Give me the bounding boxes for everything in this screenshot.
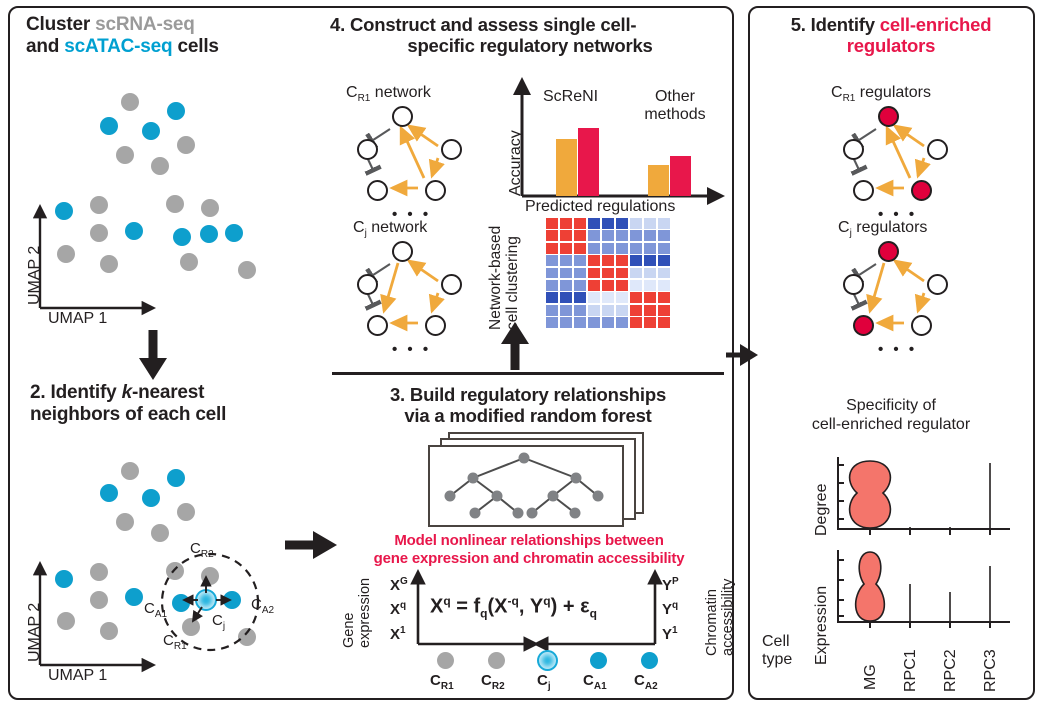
step1-title-cells: cells — [172, 36, 218, 57]
heatmap-cell — [658, 243, 670, 254]
heatmap-cell — [574, 268, 586, 279]
scatter-dot-gray — [177, 503, 195, 521]
rf-tree — [428, 445, 620, 523]
scatter-dot-gray — [177, 136, 195, 154]
heatmap-cell — [588, 243, 600, 254]
eq-cell-label-ca2: CA2 — [634, 672, 658, 692]
heatmap-cell — [546, 268, 558, 279]
scatter-dot-gray — [90, 563, 108, 581]
heatmap-cell — [630, 255, 642, 266]
heatmap-cell — [630, 305, 642, 316]
heatmap-cell — [602, 305, 614, 316]
heatmap-ylabel: Network-based cell clustering — [487, 215, 522, 330]
heatmap-cell — [602, 230, 614, 241]
net2-suffix: network — [367, 219, 427, 236]
step4-title-line2: specific regulatory networks — [330, 35, 730, 56]
network-node — [927, 139, 948, 160]
heatmap-cell — [630, 280, 642, 291]
heatmap-cell — [644, 292, 656, 303]
bar-chart-ylabel: Accuracy — [507, 130, 525, 196]
knn-label-ca1-main: C — [144, 600, 155, 617]
eq-cell-cj — [539, 652, 556, 669]
heatmap-cell — [602, 218, 614, 229]
step2-title-line2: neighbors of each cell — [30, 404, 226, 425]
violin-ylabel-expression: Expression — [813, 586, 831, 665]
tick-x1: X1 — [390, 625, 406, 643]
scatter-dot-gray — [121, 93, 139, 111]
heatmap-cell — [546, 292, 558, 303]
heatmap-grid — [546, 218, 670, 328]
step3-highlight: Model nonlinear relationships between ge… — [332, 532, 726, 568]
scatter-dot-blue — [55, 570, 73, 588]
step4-title-line1: 4. Construct and assess single cell- — [330, 14, 636, 35]
scatter-dot-blue — [100, 117, 118, 135]
heatmap-cell — [588, 255, 600, 266]
step1-title-scrna: scRNA-seq — [95, 14, 195, 35]
scatter-dot-gray — [121, 462, 139, 480]
step1-title: Cluster scRNA-seq and scATAC-seq cells — [26, 14, 326, 58]
tick-xg: XG — [390, 576, 408, 594]
bar-screni-orange — [556, 139, 577, 196]
heatmap-cell — [574, 230, 586, 241]
network-node — [367, 180, 388, 201]
heatmap-cell — [560, 255, 572, 266]
heatmap-cell — [546, 243, 558, 254]
bar-other-orange — [648, 165, 669, 196]
knn-label-ca1-sub: A1 — [155, 609, 167, 620]
scatter-dot-gray — [90, 591, 108, 609]
tick-yq: Yq — [662, 600, 678, 618]
heatmap-cell — [546, 280, 558, 291]
step5-network1-label: CR1 regulators — [831, 84, 931, 104]
knn-label-cj-main: C — [212, 612, 223, 629]
scatter-dot-blue — [125, 222, 143, 240]
heatmap-cell — [658, 292, 670, 303]
heatmap-cell — [602, 243, 614, 254]
step3-title: 3. Build regulatory relationships via a … — [332, 384, 724, 427]
heatmap-ylabel-l2: cell clustering — [504, 236, 521, 330]
eq-cell-label-cr2: CR2 — [481, 672, 505, 692]
heatmap-ylabel-l1: Network-based — [487, 226, 504, 330]
step5-title-hl1: cell-enriched — [880, 14, 992, 35]
heatmap-cell — [560, 317, 572, 328]
knn-label-ca1: CA1 — [144, 600, 167, 620]
scatter-dot-blue — [167, 469, 185, 487]
heatmap-cell — [588, 268, 600, 279]
heatmap-cell — [588, 218, 600, 229]
eq-cell-label-cr1: CR1 — [430, 672, 454, 692]
heatmap-cell — [658, 317, 670, 328]
violin-title: Specificity of cell-enriched regulator — [760, 396, 1022, 434]
violin-tick-rpc3: RPC3 — [982, 649, 1000, 692]
tick-xq: Xq — [390, 600, 406, 618]
scatter-dot-blue — [200, 225, 218, 243]
s5net2-c: C — [838, 219, 850, 236]
step2-title: 2. Identify k-nearest neighbors of each … — [30, 382, 330, 426]
s5net2-suffix: regulators — [852, 219, 928, 236]
ge-l2: expression — [357, 578, 373, 648]
network-node — [425, 180, 446, 201]
network-node — [843, 139, 864, 160]
heatmap-cell — [560, 292, 572, 303]
violin-title-l1: Specificity of — [846, 397, 936, 414]
scatter-dot-gray — [151, 524, 169, 542]
network-node — [425, 315, 446, 336]
scatter-dot-gray — [116, 146, 134, 164]
heatmap-cell — [560, 218, 572, 229]
arrow-step4-to-step5 — [722, 338, 762, 374]
network-node — [357, 274, 378, 295]
bar-other-crimson — [670, 156, 691, 196]
tick-y1: Y1 — [662, 625, 678, 643]
step1-title-and: and — [26, 36, 64, 57]
heatmap-cell — [560, 305, 572, 316]
heatmap-cell — [602, 317, 614, 328]
heatmap-cell — [630, 218, 642, 229]
network-node — [441, 139, 462, 160]
eq-cell-label-cj: Cj — [537, 672, 551, 692]
scatter-dot-gray — [90, 196, 108, 214]
heatmap-cell — [644, 218, 656, 229]
step1-title-scatac: scATAC-seq — [64, 36, 172, 57]
heatmap-cell — [546, 317, 558, 328]
s5net1-suffix: regulators — [855, 84, 931, 101]
knn-label-cj: Cj — [212, 612, 225, 632]
heatmap-cell — [546, 218, 558, 229]
eqlbl2: C — [537, 672, 548, 689]
heatmap-cell — [630, 292, 642, 303]
scatter-dot-gray — [57, 245, 75, 263]
scatter-dot-gray — [201, 199, 219, 217]
violin-tick-rpc2: RPC2 — [942, 649, 960, 692]
s5net1-sub: R1 — [843, 93, 856, 104]
heatmap-cell — [616, 255, 628, 266]
heatmap-cell — [644, 230, 656, 241]
network-node — [853, 180, 874, 201]
step1-xlabel: UMAP 1 — [48, 310, 107, 328]
violin-ylabel-degree: Degree — [813, 484, 831, 536]
step2-ylabel: UMAP 2 — [26, 603, 44, 662]
violin-tick-rpc1: RPC1 — [902, 649, 920, 692]
step5-title-pre: 5. Identify — [791, 14, 880, 35]
step1-ylabel: UMAP 2 — [26, 246, 44, 305]
net1-suffix: network — [370, 84, 430, 101]
eqlbl4: C — [634, 672, 645, 689]
network-node — [357, 139, 378, 160]
heatmap-cell — [560, 230, 572, 241]
heatmap-cell — [616, 305, 628, 316]
step4-network1-label: CR1 network — [346, 84, 431, 104]
violin-title-l2: cell-enriched regulator — [812, 416, 970, 433]
s5net1-c: C — [831, 84, 843, 101]
step3-title-line2: via a modified random forest — [404, 405, 651, 426]
scatter-dot-blue — [142, 122, 160, 140]
step3-title-line1: 3. Build regulatory relationships — [390, 384, 666, 405]
network-node — [392, 106, 413, 127]
knn-label-ca2-main: C — [251, 596, 262, 613]
heatmap-cell — [588, 305, 600, 316]
eq-cell-label-ca1: CA1 — [583, 672, 607, 692]
arrow-step1-to-step2 — [136, 330, 172, 384]
heatmap-cell — [588, 230, 600, 241]
heatmap-cell — [644, 268, 656, 279]
knn-label-cr1-sub: R1 — [174, 641, 187, 652]
heatmap-cell — [546, 255, 558, 266]
ct-l1: Cell — [762, 633, 790, 650]
heatmap-cell — [588, 317, 600, 328]
step1-title-p1: Cluster — [26, 14, 95, 35]
heatmap-cell — [588, 292, 600, 303]
scatter-dot-blue — [55, 202, 73, 220]
step2-title-pre: 2. Identify — [30, 382, 122, 403]
heatmap-cell — [658, 268, 670, 279]
violin-panel-degree — [830, 455, 1020, 537]
scatter-dot-blue — [142, 489, 160, 507]
step4-ellipsis-2: • • • — [392, 341, 431, 358]
section-divider — [332, 372, 724, 375]
scatter-dot-gray — [238, 261, 256, 279]
step5-ellipsis-2: • • • — [878, 341, 917, 358]
heatmap-cell — [574, 280, 586, 291]
scatter-dot-gray — [166, 195, 184, 213]
heatmap-cell — [560, 280, 572, 291]
network-node-enriched — [911, 180, 932, 201]
heatmap-cell — [546, 230, 558, 241]
bar-screni-crimson — [578, 128, 599, 196]
step4-title: 4. Construct and assess single cell- spe… — [330, 14, 730, 57]
heatmap-cell — [574, 255, 586, 266]
heatmap-cell — [560, 268, 572, 279]
arrow-step3-to-step4 — [498, 318, 534, 372]
eq-cell-ca2 — [641, 652, 658, 669]
eqsub2: j — [548, 681, 551, 692]
step5-title: 5. Identify cell-enriched regulators — [760, 14, 1022, 57]
scatter-dot-gray — [180, 253, 198, 271]
step2-axes — [32, 565, 162, 675]
heatmap-cell — [588, 280, 600, 291]
step2-xlabel: UMAP 1 — [48, 667, 107, 685]
heatmap-cell — [644, 255, 656, 266]
heatmap-cell — [630, 243, 642, 254]
eqsub1: R2 — [492, 681, 505, 692]
eq-cell-cr1 — [437, 652, 454, 669]
network-node — [367, 315, 388, 336]
network-node — [927, 274, 948, 295]
heatmap-cell — [658, 305, 670, 316]
network-node — [392, 241, 413, 262]
violin-panel-expression — [830, 548, 1020, 630]
scatter-dot-gray — [90, 224, 108, 242]
heatmap-cell — [616, 230, 628, 241]
heatmap-cell — [616, 317, 628, 328]
scatter-dot-blue — [225, 224, 243, 242]
chromatin-accessibility-ylabel: Chromatin accessibility — [704, 570, 736, 656]
step5-network2-label: Cj regulators — [838, 219, 927, 239]
heatmap-cell — [644, 305, 656, 316]
heatmap-cell — [630, 317, 642, 328]
bar-group-label-1: ScReNI — [543, 88, 598, 106]
step3-highlight-l1: Model nonlinear relationships between — [394, 532, 663, 549]
network-node-enriched — [878, 241, 899, 262]
knn-label-cr2-sub: R2 — [201, 549, 214, 560]
network-node-enriched — [878, 106, 899, 127]
heatmap-cell — [574, 305, 586, 316]
net1-sub: R1 — [358, 93, 371, 104]
heatmap-cell — [658, 230, 670, 241]
scatter-dot-blue — [125, 588, 143, 606]
scatter-dot-blue — [167, 102, 185, 120]
step5-title-hl2: regulators — [847, 35, 935, 56]
knn-label-cr1-main: C — [163, 632, 174, 649]
ca-l2: accessibility — [720, 579, 736, 656]
heatmap-cell — [644, 280, 656, 291]
tick-yp: YP — [662, 576, 679, 594]
step2-title-k: k — [122, 382, 132, 403]
net1-c: C — [346, 84, 358, 101]
scatter-dot-gray — [116, 513, 134, 531]
step4-network2-label: Cj network — [353, 219, 427, 239]
bar-chart-xlabel: Predicted regulations — [525, 198, 675, 216]
eq-cell-cr2 — [488, 652, 505, 669]
bar-group-label-2: Othermethods — [637, 88, 713, 125]
knn-label-cj-sub: j — [223, 621, 225, 632]
heatmap-cell — [644, 243, 656, 254]
scatter-dot-blue — [173, 228, 191, 246]
heatmap-cell — [602, 280, 614, 291]
heatmap-cell — [616, 292, 628, 303]
heatmap-cell — [644, 317, 656, 328]
step3-highlight-l2: gene expression and chromatin accessibil… — [374, 550, 685, 567]
heatmap-cell — [574, 243, 586, 254]
equation-text: Xq = fq(X-q, Yq) + εq — [430, 594, 597, 621]
ct-l2: type — [762, 651, 792, 668]
violin-xlabel-celltype: Cell type — [762, 633, 792, 670]
knn-label-ca2: CA2 — [251, 596, 274, 616]
ge-l1: Gene — [341, 613, 357, 648]
heatmap-cell — [630, 230, 642, 241]
ca-l1: Chromatin — [704, 589, 720, 656]
heatmap-cell — [630, 268, 642, 279]
scatter-dot-gray — [151, 157, 169, 175]
heatmap-cell — [574, 218, 586, 229]
step2-title-post: -nearest — [132, 382, 204, 403]
network-node — [441, 274, 462, 295]
eq-cell-ca1 — [590, 652, 607, 669]
heatmap-cell — [616, 280, 628, 291]
eqlbl0: C — [430, 672, 441, 689]
heatmap-cell — [574, 317, 586, 328]
heatmap-cell — [658, 280, 670, 291]
figure-root: Cluster scRNA-seq and scATAC-seq cells U… — [0, 0, 1039, 705]
network-node — [911, 315, 932, 336]
eqlbl3: C — [583, 672, 594, 689]
eqsub3: A1 — [594, 681, 607, 692]
heatmap-cell — [658, 255, 670, 266]
scatter-dot-gray — [100, 622, 118, 640]
network-node — [843, 274, 864, 295]
scatter-dot-gray — [57, 612, 75, 630]
heatmap-cell — [574, 292, 586, 303]
eqsub0: R1 — [441, 681, 454, 692]
net2-c: C — [353, 219, 365, 236]
heatmap-cell — [546, 305, 558, 316]
eqsub4: A2 — [645, 681, 658, 692]
gene-expression-ylabel: Gene expression — [341, 568, 373, 648]
knn-label-ca2-sub: A2 — [262, 605, 274, 616]
knn-label-cr1: CR1 — [163, 632, 187, 652]
scatter-dot-gray — [100, 255, 118, 273]
heatmap-cell — [658, 218, 670, 229]
knn-label-cr2-main: C — [190, 540, 201, 557]
eqlbl1: C — [481, 672, 492, 689]
heatmap-cell — [616, 218, 628, 229]
heatmap-cell — [602, 292, 614, 303]
heatmap-cell — [560, 243, 572, 254]
knn-label-cr2: CR2 — [190, 540, 214, 560]
violin-tick-mg: MG — [862, 664, 880, 690]
scatter-dot-blue — [100, 484, 118, 502]
network-node-enriched — [853, 315, 874, 336]
heatmap-cell — [602, 268, 614, 279]
heatmap-cell — [616, 268, 628, 279]
heatmap-cell — [602, 255, 614, 266]
heatmap-cell — [616, 243, 628, 254]
